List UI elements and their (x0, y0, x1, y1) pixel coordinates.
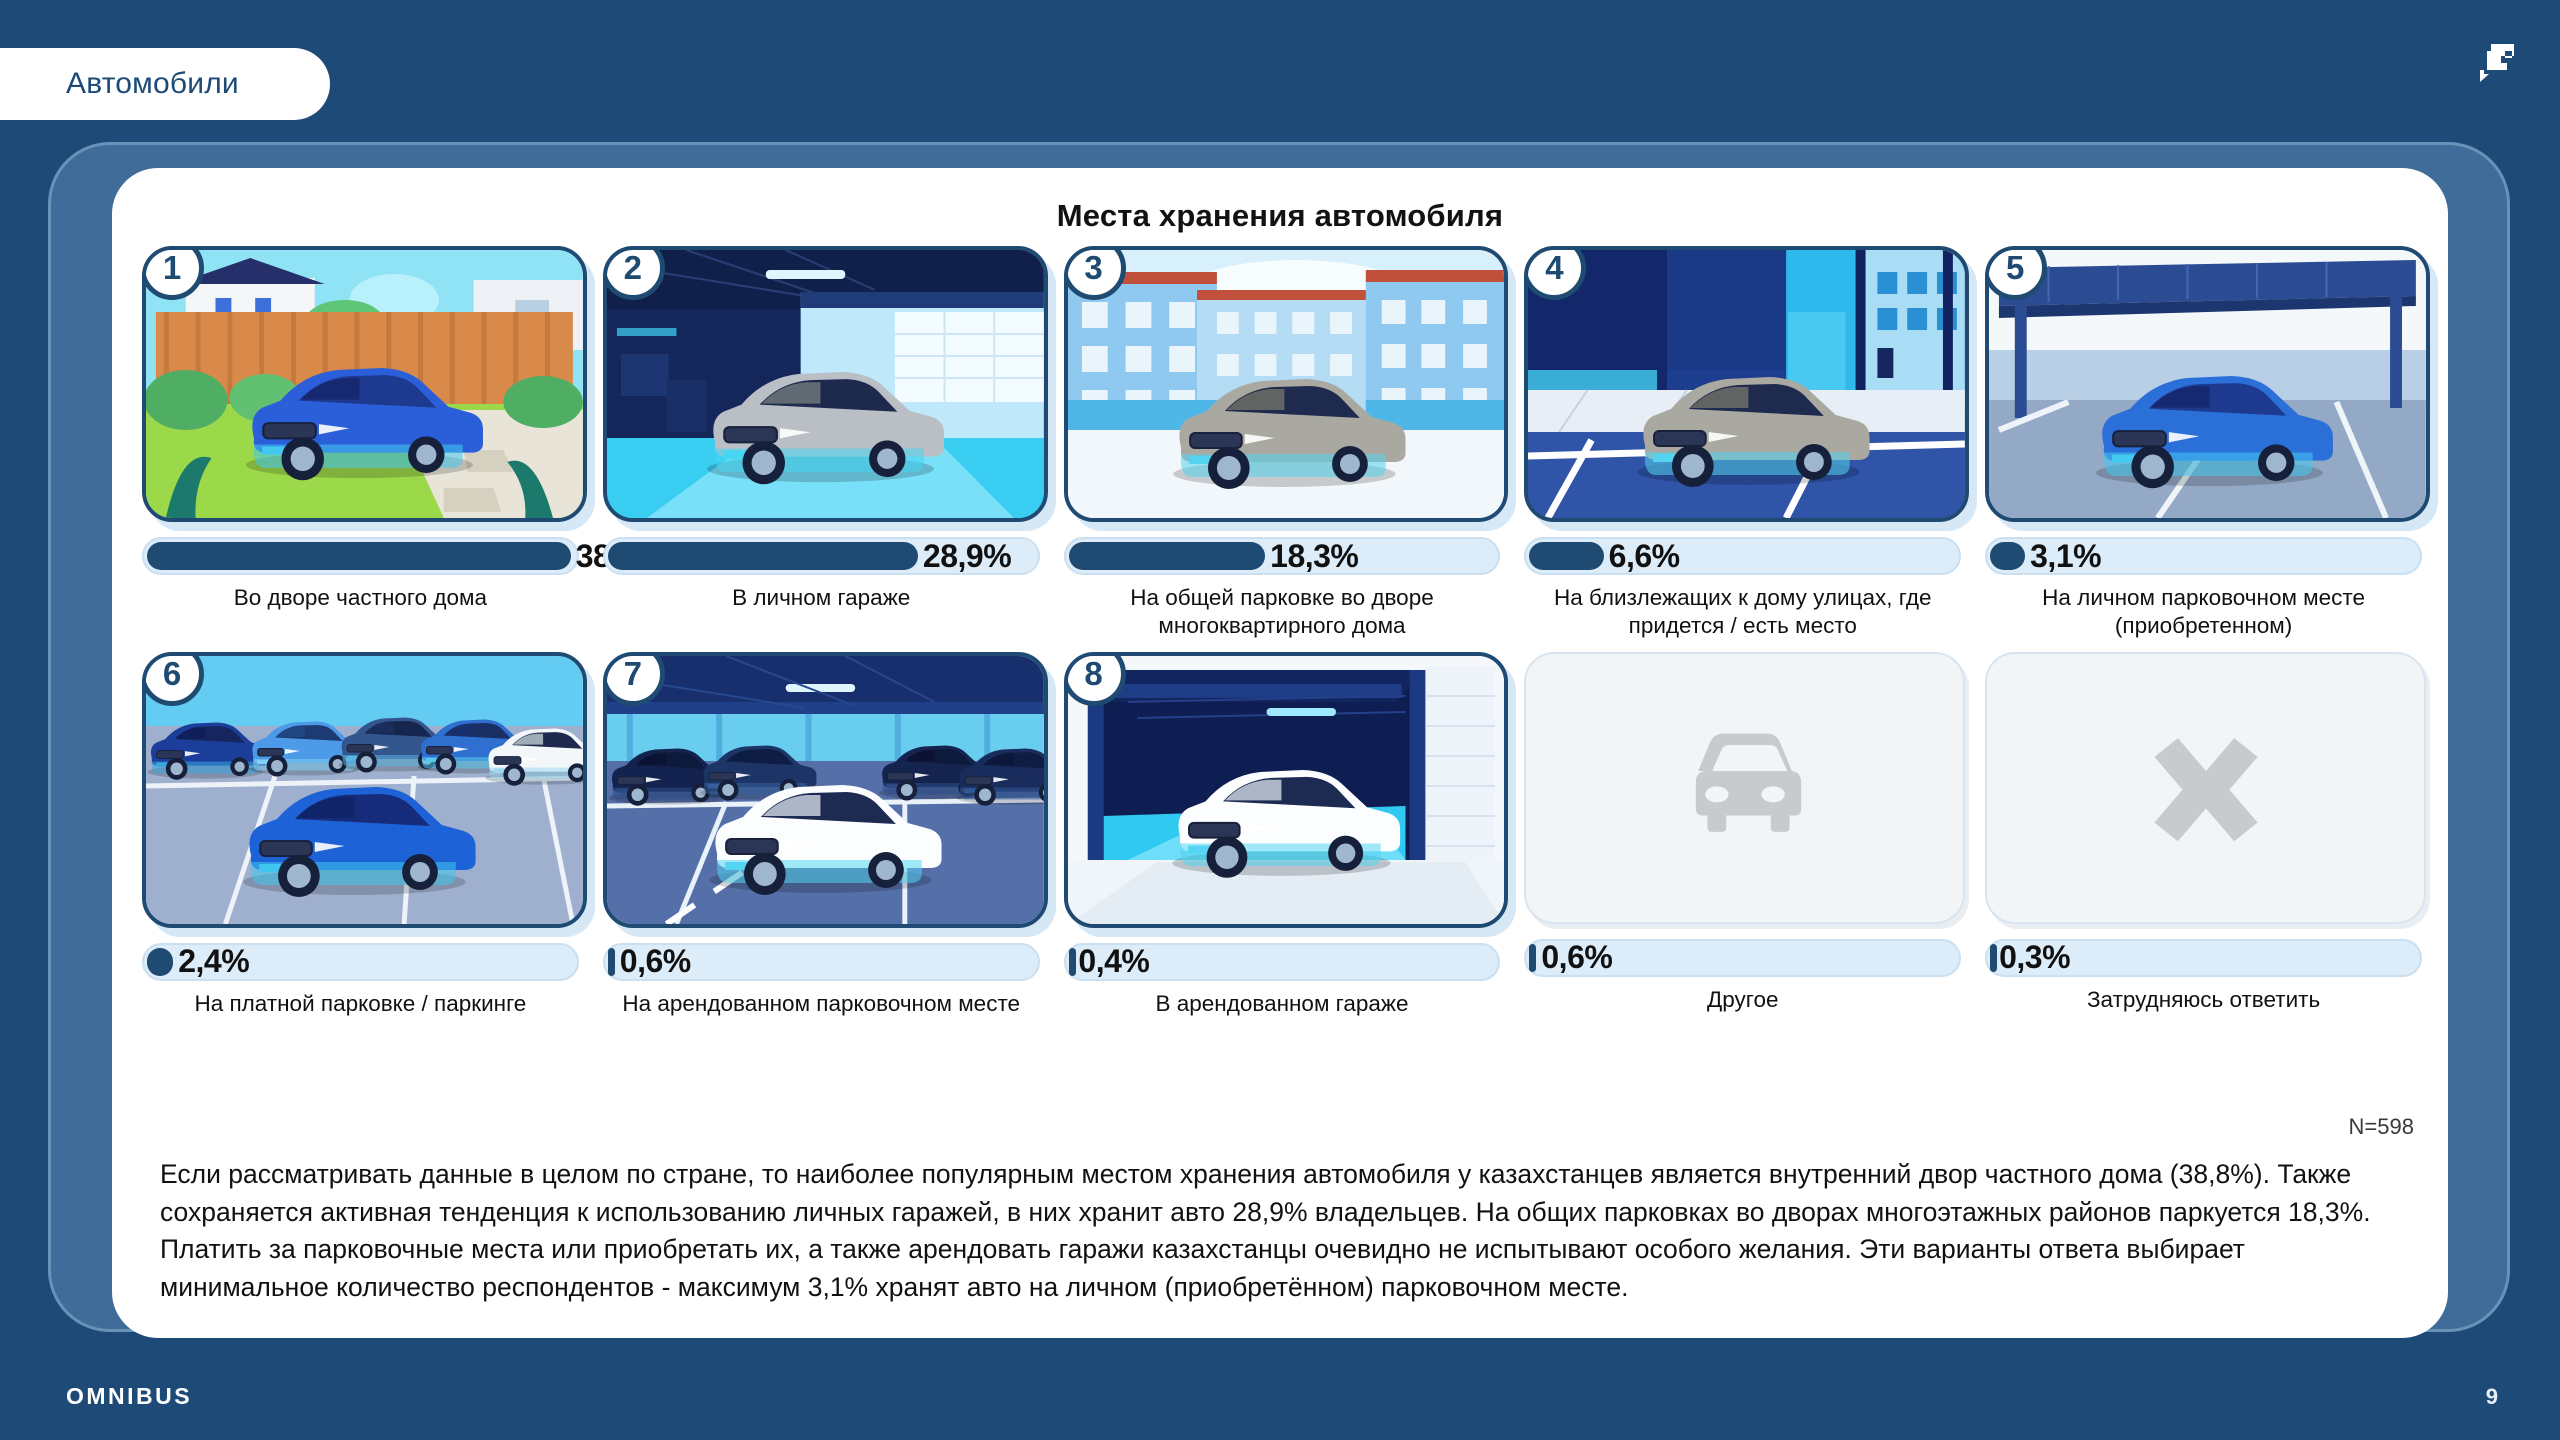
omnibus-bracket-logo-icon (2474, 40, 2520, 86)
bar-value-label: 18,3% (1270, 537, 1358, 575)
white-car-rented-parking-space (607, 656, 1044, 924)
card-caption: На платной парковке / паркинге (142, 990, 579, 1018)
storage-place-cell: 80,4%В арендованном гараже (1064, 652, 1501, 1018)
percentage-bar: 2,4% (142, 943, 579, 981)
grey-car-city-street (1528, 250, 1965, 518)
storage-place-card[interactable] (1524, 652, 1965, 924)
grey-car-placeholder-icon (1670, 710, 1820, 865)
storage-place-card[interactable]: 7 (603, 652, 1048, 928)
bar-fill (147, 542, 571, 570)
content-panel: Места хранения автомобиля 138,8%Во дворе… (112, 168, 2448, 1338)
bar-fill (608, 948, 615, 976)
percentage-bar: 38,8% (142, 537, 579, 575)
bar-fill (1990, 542, 2025, 570)
percentage-bar: 3,1% (1985, 537, 2422, 575)
card-caption: На общей парковке во дворе многоквартирн… (1064, 584, 1501, 640)
bar-fill (1529, 944, 1536, 972)
silver-car-personal-garage (607, 250, 1044, 518)
storage-place-cell: 0,3%Затрудняюсь ответить (1985, 652, 2422, 1018)
bar-fill (147, 948, 173, 976)
bar-fill (1990, 944, 1997, 972)
card-caption: На личном парковочном месте (приобретенн… (1985, 584, 2422, 640)
section-tab[interactable]: Автомобили (0, 48, 330, 120)
storage-place-card[interactable]: 6 (142, 652, 587, 928)
white-car-rented-garage (1068, 656, 1505, 924)
storage-place-card[interactable]: 5 (1985, 246, 2430, 522)
summary-paragraph: Если рассматривать данные в целом по стр… (160, 1156, 2410, 1307)
percentage-bar: 0,6% (1524, 939, 1961, 977)
footer-page-number: 9 (2486, 1384, 2498, 1410)
storage-place-cell: 228,9%В личном гараже (603, 246, 1040, 640)
percentage-bar: 28,9% (603, 537, 1040, 575)
storage-place-cell: 318,3%На общей парковке во дворе многокв… (1064, 246, 1501, 640)
page-title: Места хранения автомобиля (112, 198, 2448, 234)
blue-car-paid-parking-lot (146, 656, 583, 924)
percentage-bar: 6,6% (1524, 537, 1961, 575)
storage-places-grid: 138,8%Во дворе частного дома228,9%В личн… (142, 246, 2422, 1018)
storage-place-card[interactable]: 1 (142, 246, 587, 522)
bar-value-label: 6,6% (1609, 537, 1680, 575)
storage-place-cell: 62,4%На платной парковке / паркинге (142, 652, 579, 1018)
storage-place-card[interactable]: 3 (1064, 246, 1509, 522)
blue-car-carport (1989, 250, 2426, 518)
bar-fill (608, 542, 918, 570)
grey-car-apartment-courtyard (1068, 250, 1505, 518)
card-caption: Затрудняюсь ответить (1985, 986, 2422, 1014)
storage-place-cell: 70,6%На арендованном парковочном месте (603, 652, 1040, 1018)
storage-place-cell: 138,8%Во дворе частного дома (142, 246, 579, 640)
bar-value-label: 28,9% (923, 537, 1011, 575)
card-caption: Другое (1524, 986, 1961, 1014)
bar-value-label: 2,4% (178, 943, 249, 981)
storage-place-cell: 53,1%На личном парковочном месте (приобр… (1985, 246, 2422, 640)
section-tab-label: Автомобили (66, 67, 239, 101)
footer-brand: OMNIBUS (66, 1383, 192, 1410)
grey-cross-placeholder-icon (2131, 710, 2281, 865)
storage-place-card[interactable]: 4 (1524, 246, 1969, 522)
percentage-bar: 0,4% (1064, 943, 1501, 981)
storage-place-card[interactable]: 8 (1064, 652, 1509, 928)
card-caption: На арендованном парковочном месте (603, 990, 1040, 1018)
blue-car-private-yard (146, 250, 583, 518)
storage-place-card[interactable] (1985, 652, 2426, 924)
bar-fill (1069, 542, 1266, 570)
storage-place-cell: 0,6%Другое (1524, 652, 1961, 1018)
sample-size-label: N=598 (2349, 1114, 2414, 1140)
percentage-bar: 0,6% (603, 943, 1040, 981)
card-caption: Во дворе частного дома (142, 584, 579, 612)
bar-value-label: 3,1% (2030, 537, 2101, 575)
storage-place-card[interactable]: 2 (603, 246, 1048, 522)
bar-value-label: 0,6% (1541, 939, 1612, 977)
bar-value-label: 0,6% (620, 943, 691, 981)
bar-fill (1069, 948, 1076, 976)
storage-place-cell: 46,6%На близлежащих к дому улицах, где п… (1524, 246, 1961, 640)
bar-value-label: 0,3% (1999, 939, 2070, 977)
bar-fill (1529, 542, 1603, 570)
bar-value-label: 0,4% (1078, 943, 1149, 981)
percentage-bar: 0,3% (1985, 939, 2422, 977)
card-caption: В личном гараже (603, 584, 1040, 612)
percentage-bar: 18,3% (1064, 537, 1501, 575)
card-caption: На близлежащих к дому улицах, где придет… (1524, 584, 1961, 640)
card-caption: В арендованном гараже (1064, 990, 1501, 1018)
